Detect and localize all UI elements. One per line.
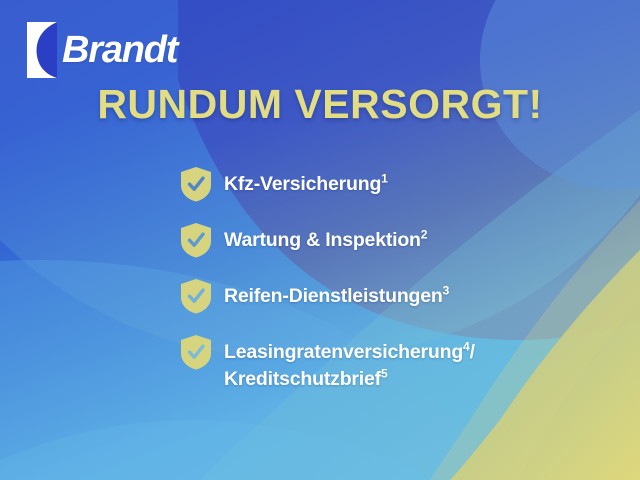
shield-check-icon [180, 166, 212, 202]
list-item-label: Wartung & Inspektion2 [224, 224, 427, 254]
promo-poster: Brandt RUNDUM VERSORGT! Kfz-Versicherung… [0, 0, 640, 480]
shield-check-icon [180, 334, 212, 370]
list-item: Kfz-Versicherung1 [180, 168, 610, 206]
feature-list: Kfz-Versicherung1 Wartung & Inspektion2 [180, 168, 610, 393]
list-item: Reifen-Dienstleistungen3 [180, 280, 610, 318]
shield-check-icon [180, 278, 212, 314]
page-title: RUNDUM VERSORGT! [0, 84, 640, 125]
brand-logo[interactable]: Brandt [27, 22, 177, 78]
list-item: Leasingratenversicherung4/ Kreditschutzb… [180, 336, 610, 393]
brand-name: Brandt [62, 31, 177, 69]
brandt-bracket-mark-icon [27, 22, 57, 78]
list-item-label: Reifen-Dienstleistungen3 [224, 280, 449, 310]
list-item-label: Kfz-Versicherung1 [224, 168, 388, 198]
shield-check-icon [180, 222, 212, 258]
list-item-label: Leasingratenversicherung4/ Kreditschutzb… [224, 336, 475, 393]
list-item: Wartung & Inspektion2 [180, 224, 610, 262]
